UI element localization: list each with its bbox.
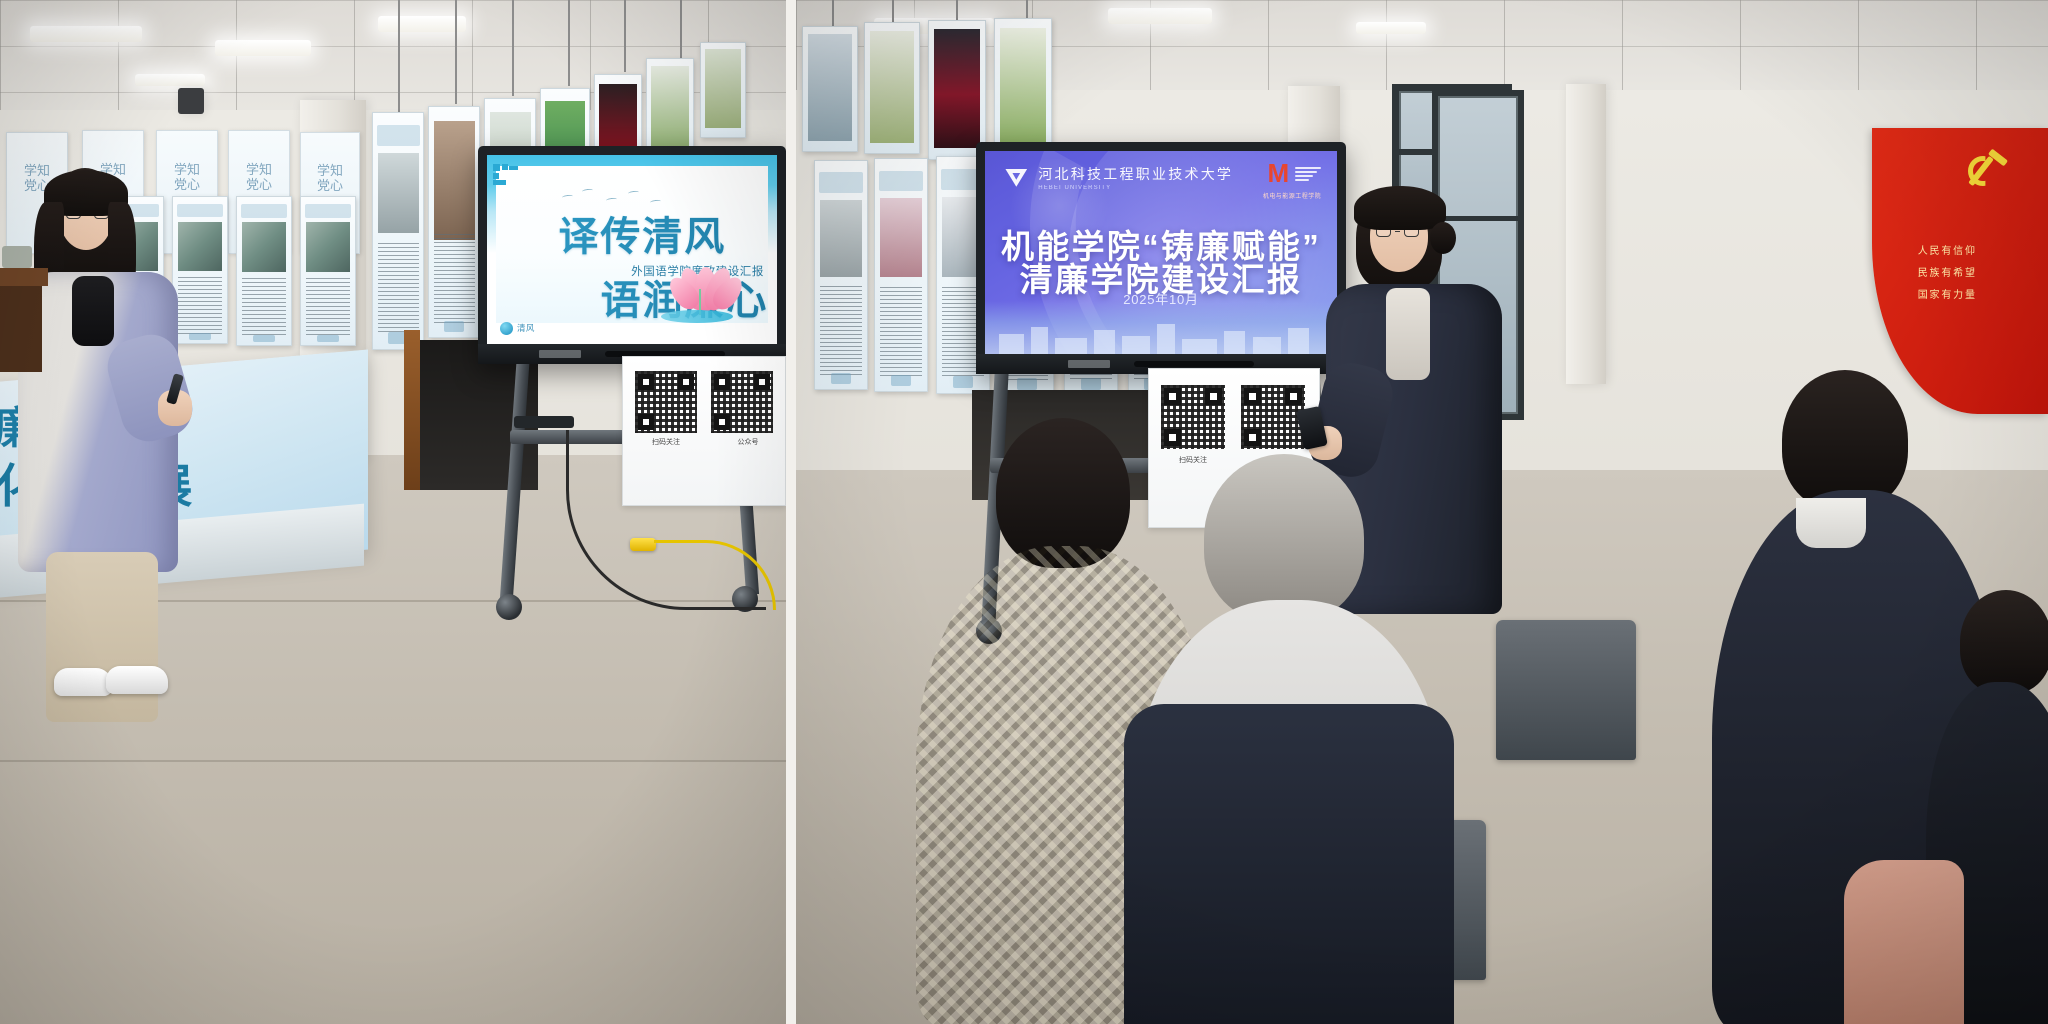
hanging-poster [814, 160, 868, 390]
qr-caption: 扫码关注 [623, 437, 709, 447]
college-badge: M 机电与能源工程学院 [1268, 163, 1322, 184]
presenter-hair-front [1354, 186, 1446, 230]
stand-leg [500, 364, 530, 602]
hanging-rod [1026, 0, 1028, 18]
hanging-poster [874, 158, 928, 392]
slide-translation-cover: 译传清风 语润廉心 外国语学院廉政建设汇报 [487, 155, 777, 344]
yellow-power-adapter [630, 538, 656, 551]
badge-lines-icon [1295, 167, 1321, 181]
presenter-left [10, 168, 190, 728]
smartboard-screen[interactable]: 河北科技工程职业技术大学 HEBEI UNIVERSITY M 机电与能源工程学… [985, 151, 1337, 354]
attendee-head [1960, 590, 2048, 694]
ceiling-light [215, 40, 311, 56]
pillar [1566, 84, 1606, 384]
qr-standee-left: 扫码关注 公众号 [622, 356, 786, 506]
slide-logo-text: 清风 [517, 322, 535, 334]
lotus-motif [643, 243, 763, 329]
stand-tray [514, 416, 574, 428]
presenter-inner-top [1386, 288, 1430, 380]
smartboard-right[interactable]: 河北科技工程职业技术大学 HEBEI UNIVERSITY M 机电与能源工程学… [976, 142, 1346, 374]
hanging-rod [680, 0, 682, 60]
side-desk-items [2, 246, 32, 268]
right-photo-panel: 人民有信仰 民族有希望 国家有力量 河北科 [796, 0, 2048, 1024]
pillar-speaker [178, 88, 204, 114]
ceiling-light [30, 26, 142, 42]
university-name-en: HEBEI UNIVERSITY [1038, 185, 1233, 191]
hanging-rod [956, 0, 958, 22]
smartboard-left[interactable]: 译传清风 语润廉心 外国语学院廉政建设汇报 [478, 146, 786, 364]
slide-logo-mark [500, 322, 513, 335]
presenter-inner-top [72, 276, 114, 346]
attendee-head [1204, 454, 1364, 622]
stand-caster [496, 594, 522, 620]
smartboard-label [1068, 360, 1110, 368]
photo-composite: 学知 党心 学知 党心 学知 党心 学知 党心 学知 党心 [0, 0, 2048, 1024]
banner-slogan: 国家有力量 [1918, 286, 1977, 301]
ceiling-light [1356, 22, 1426, 34]
poster-board [236, 196, 292, 346]
attendee-arm-foreground [1844, 860, 1964, 1024]
qr-code [635, 371, 697, 433]
slide-report-cover: 河北科技工程职业技术大学 HEBEI UNIVERSITY M 机电与能源工程学… [985, 151, 1337, 354]
wall-panel-text: 学知 党心 [244, 163, 274, 193]
hanging-rod [512, 0, 514, 96]
door-frame-wood [404, 330, 420, 490]
banner-slogan: 民族有希望 [1918, 264, 1977, 279]
left-photo-panel: 学知 党心 学知 党心 学知 党心 学知 党心 学知 党心 [0, 0, 786, 1024]
hanging-poster [928, 20, 986, 160]
wall-panel-text: 学知 党心 [316, 164, 345, 194]
ceiling-light [135, 74, 205, 86]
panel-gutter [786, 0, 796, 1024]
left-room: 学知 党心 学知 党心 学知 党心 学知 党心 学知 党心 [0, 0, 786, 1024]
smartboard-screen[interactable]: 译传清风 语润廉心 外国语学院廉政建设汇报 [487, 155, 777, 344]
qr-caption: 公众号 [709, 437, 786, 447]
attendee-collar [1796, 498, 1866, 548]
hanging-poster [864, 22, 920, 154]
ceiling-light [1108, 8, 1212, 24]
presenter-shoe [106, 666, 168, 694]
chair [1496, 620, 1636, 760]
hanging-poster [428, 106, 480, 338]
qr-code [711, 371, 773, 433]
ink-corner-motif [493, 164, 519, 186]
attendee-head [1782, 370, 1908, 510]
presenter-trousers [46, 552, 158, 722]
hanging-rod [455, 0, 457, 104]
attendee-jacket [1124, 704, 1454, 1024]
right-room: 人民有信仰 民族有希望 国家有力量 河北科 [796, 0, 2048, 1024]
hanging-poster [700, 42, 746, 138]
hammer-and-sickle-icon [1964, 150, 2016, 196]
side-desk-body [0, 286, 42, 372]
slide-city-skyline [985, 301, 1337, 354]
floor-seam [0, 760, 786, 762]
side-desk [0, 268, 48, 286]
presenter-hair-bun [1430, 222, 1456, 254]
university-mark-icon [1003, 165, 1029, 191]
hanging-rod [398, 0, 400, 112]
hanging-poster [372, 112, 424, 350]
hanging-rod [624, 0, 626, 72]
hanging-rod [568, 0, 570, 86]
slide-logo: 清风 [500, 322, 535, 335]
attendee-grey-hair-center [1134, 454, 1444, 1024]
hanging-poster [802, 26, 858, 152]
university-logo: 河北科技工程职业技术大学 HEBEI UNIVERSITY [1003, 164, 1233, 191]
badge-letter: M [1268, 163, 1290, 184]
qr-code [1241, 385, 1305, 449]
university-name-cn: 河北科技工程职业技术大学 [1038, 164, 1233, 184]
presenter-shoe [54, 668, 112, 696]
smartboard-label [539, 350, 581, 358]
ceiling-light [378, 16, 466, 32]
banner-slogan: 人民有信仰 [1918, 242, 1977, 257]
banner-slogans: 人民有信仰 民族有希望 国家有力量 [1918, 242, 1977, 301]
poster-board [300, 196, 356, 346]
smartboard-sensor-bar [1134, 361, 1254, 367]
